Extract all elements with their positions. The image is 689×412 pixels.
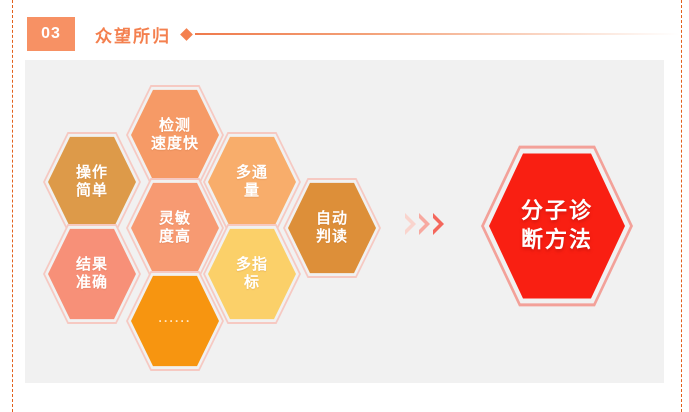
hex-operation-simple[interactable]: 操作简单 (48, 136, 136, 228)
hex-auto-interpret[interactable]: 自动判读 (288, 182, 376, 274)
section-header: 03 众望所归 (27, 17, 679, 51)
hex-label-line2: 量 (236, 182, 268, 200)
hex-more-dots[interactable]: ······ (131, 275, 219, 367)
content-panel: 操作简单检测速度快多通量自动判读灵敏度高结果准确多指标······ 分子诊 断方… (25, 60, 664, 383)
hex-label: 检测速度快 (151, 117, 199, 154)
result-hex-label: 分子诊 断方法 (521, 197, 593, 254)
hex-label-line1: 灵敏 (159, 210, 191, 227)
chevron-arrow-icon (405, 213, 444, 235)
hex-label-line1: 检测 (159, 117, 191, 134)
guide-rail-left (12, 0, 13, 412)
hex-label-line2: 准确 (76, 274, 108, 292)
hex-label-line2: 判读 (316, 228, 348, 246)
hex-label: 多通量 (236, 164, 268, 201)
hex-dots-label: ······ (159, 314, 192, 328)
hex-label-line2: 简单 (76, 182, 108, 200)
chevron-3-icon (433, 213, 444, 235)
hex-label: 灵敏度高 (159, 210, 191, 247)
hex-label: 自动判读 (316, 210, 348, 247)
hex-label-line1: 多通 (236, 164, 268, 181)
hex-fast-detection[interactable]: 检测速度快 (131, 89, 219, 181)
hex-multi-channel[interactable]: 多通量 (208, 136, 296, 228)
chevron-2-icon (419, 213, 430, 235)
hex-label-line1: 多指 (236, 256, 268, 273)
hex-label: 多指标 (236, 256, 268, 293)
hex-label-line2: 度高 (159, 228, 191, 246)
hex-label-line1: 操作 (76, 164, 108, 181)
hex-label-line1: ······ (159, 314, 192, 328)
hex-label-line1: 自动 (316, 210, 348, 227)
chevron-1-icon (405, 213, 416, 235)
hex-high-sensitivity[interactable]: 灵敏度高 (131, 182, 219, 274)
result-label-line2: 断方法 (521, 226, 593, 255)
slide-root: 03 众望所归 操作简单检测速度快多通量自动判读灵敏度高结果准确多指标·····… (0, 0, 689, 412)
diamond-icon (180, 28, 193, 41)
hex-label-line1: 结果 (76, 256, 108, 273)
header-divider-line (195, 33, 679, 34)
hex-label-line2: 速度快 (151, 135, 199, 153)
hex-label-line2: 标 (236, 274, 268, 292)
hex-multi-index[interactable]: 多指标 (208, 228, 296, 320)
guide-rail-right (681, 0, 682, 412)
result-label-line1: 分子诊 (521, 198, 593, 223)
hex-label: 结果准确 (76, 256, 108, 293)
hex-label: 操作简单 (76, 164, 108, 201)
section-number-badge: 03 (27, 17, 75, 51)
hex-result-method[interactable]: 分子诊 断方法 (489, 152, 625, 300)
page-title: 众望所归 (95, 22, 171, 47)
hex-accurate-result[interactable]: 结果准确 (48, 228, 136, 320)
